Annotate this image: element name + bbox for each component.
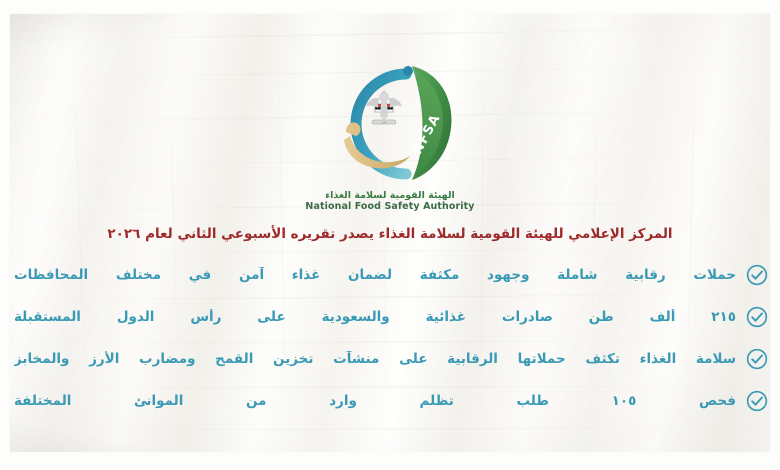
- nfsa-logo: NFSA: [0, 58, 780, 212]
- check-circle-icon: [746, 348, 768, 370]
- nfsa-logo-mark: NFSA: [320, 58, 460, 190]
- check-circle-icon: [746, 264, 768, 286]
- bullet-text: حملات رقابية شاملة وجهود مكثفة لضمان غذا…: [14, 267, 736, 284]
- list-item: حملات رقابية شاملة وجهود مكثفة لضمان غذا…: [0, 254, 780, 296]
- nfsa-name-arabic: الهيئة القومية لسلامة الغذاء: [0, 191, 780, 201]
- list-item: ٢١٥ ألف طن صادرات غذائية والسعودية على ر…: [0, 296, 780, 338]
- bullet-text: فحص ١٠٥ طلب تظلم وارد من الموانئ المختلف…: [14, 393, 736, 410]
- headline: المركز الإعلامي للهيئة القومية لسلامة ال…: [0, 226, 780, 242]
- svg-text:مصر: مصر: [380, 121, 387, 124]
- check-circle-icon: [746, 306, 768, 328]
- bullet-list: حملات رقابية شاملة وجهود مكثفة لضمان غذا…: [0, 254, 780, 422]
- bullet-text: سلامة الغذاء تكثف حملاتها الرقابية على م…: [14, 351, 736, 368]
- nfsa-name-english: National Food Safety Authority: [0, 202, 780, 212]
- check-circle-icon: [746, 390, 768, 412]
- list-item: سلامة الغذاء تكثف حملاتها الرقابية على م…: [0, 338, 780, 380]
- nfsa-logo-text: الهيئة القومية لسلامة الغذاء National Fo…: [0, 191, 780, 212]
- infographic-canvas: NFSA: [0, 0, 780, 470]
- bullet-text: ٢١٥ ألف طن صادرات غذائية والسعودية على ر…: [14, 309, 736, 326]
- list-item: فحص ١٠٥ طلب تظلم وارد من الموانئ المختلف…: [0, 380, 780, 422]
